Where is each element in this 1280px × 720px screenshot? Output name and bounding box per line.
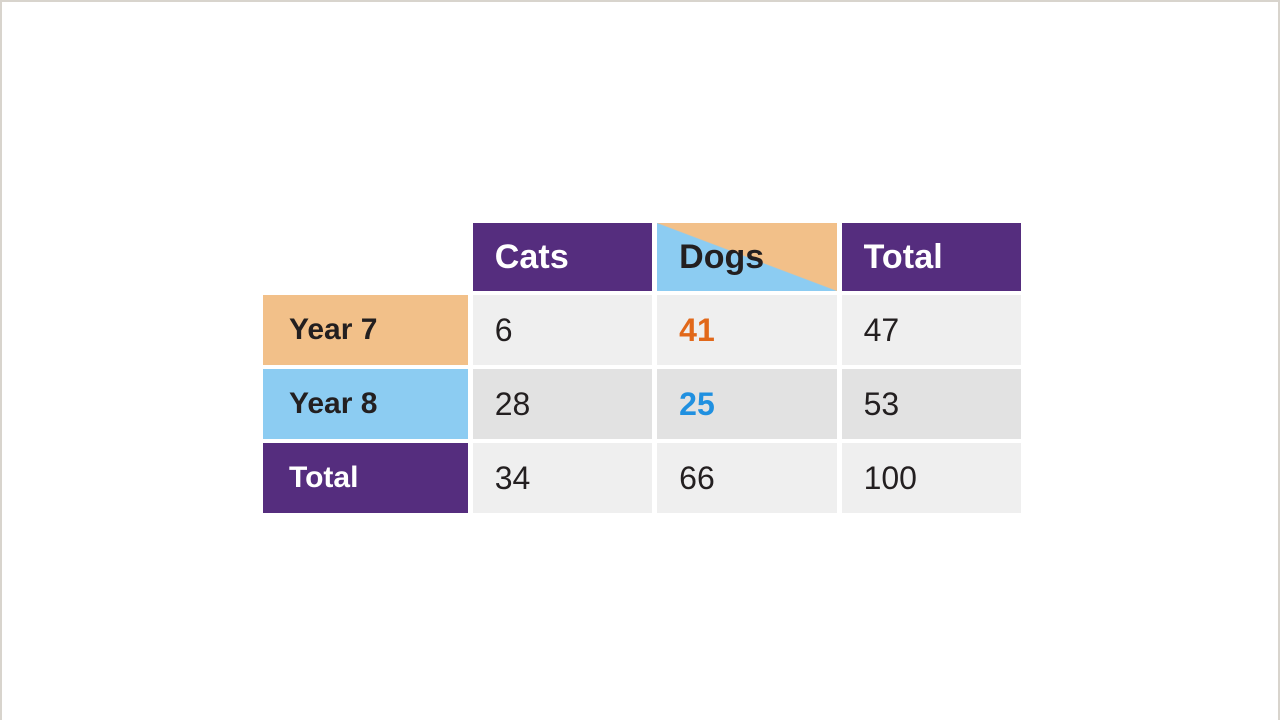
cell-year8-dogs: 25	[657, 369, 836, 439]
two-way-frequency-table: Cats Dogs Total Year 7 6 41 47 Year 8 28…	[258, 219, 1026, 517]
table-body: Year 7 6 41 47 Year 8 28 25 53 Total 34 …	[263, 295, 1021, 513]
slide-canvas: Cats Dogs Total Year 7 6 41 47 Year 8 28…	[0, 0, 1280, 720]
column-header-cats: Cats	[473, 223, 652, 291]
table-header-row: Cats Dogs Total	[263, 223, 1021, 291]
cell-year7-dogs: 41	[657, 295, 836, 365]
table-header: Cats Dogs Total	[263, 223, 1021, 291]
cell-year8-cats: 28	[473, 369, 652, 439]
table-corner-cell	[263, 223, 468, 291]
table-row: Total 34 66 100	[263, 443, 1021, 513]
row-header-total: Total	[263, 443, 468, 513]
cell-year7-total: 47	[842, 295, 1021, 365]
table-row: Year 7 6 41 47	[263, 295, 1021, 365]
cell-total-total: 100	[842, 443, 1021, 513]
cell-total-cats: 34	[473, 443, 652, 513]
row-header-year-7: Year 7	[263, 295, 468, 365]
cell-total-dogs: 66	[657, 443, 836, 513]
row-header-year-8: Year 8	[263, 369, 468, 439]
cell-year8-total: 53	[842, 369, 1021, 439]
column-header-dogs: Dogs	[657, 223, 836, 291]
column-header-total: Total	[842, 223, 1021, 291]
table-row: Year 8 28 25 53	[263, 369, 1021, 439]
cell-year7-cats: 6	[473, 295, 652, 365]
